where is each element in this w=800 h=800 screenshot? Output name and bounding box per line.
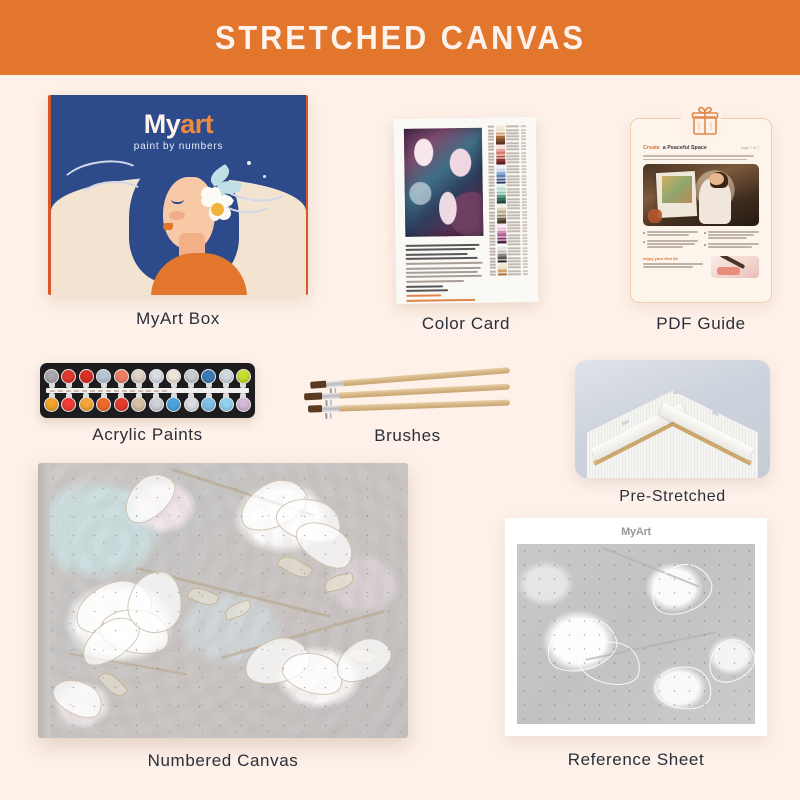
paint-pot (114, 369, 129, 384)
pdf-photo (643, 164, 759, 226)
pdf-bullet-columns (643, 231, 759, 252)
sparkle-1 (247, 161, 251, 165)
paint-pot (236, 369, 251, 384)
paint-pot (131, 369, 146, 384)
page-header: STRETCHED CANVAS (0, 0, 800, 75)
infographic-page: STRETCHED CANVAS (0, 0, 800, 800)
paint-pot (44, 369, 59, 384)
lips (163, 223, 173, 230)
paint-pot (166, 369, 181, 384)
reference-sheet-logo: MyArt (517, 526, 755, 538)
brush-bristle (304, 392, 322, 400)
gift-icon (681, 103, 721, 137)
paint-pot (166, 397, 181, 412)
numbered-canvas-surface (38, 463, 408, 738)
logo-text-my: My (144, 109, 181, 139)
pdf-guide-card: Create a Peaceful Space page 1 of 7 (630, 118, 772, 303)
paint-pot (96, 397, 111, 412)
caption-reference-sheet: Reference Sheet (505, 750, 767, 770)
logo-tagline: paint by numbers (51, 141, 306, 152)
paint-pot (201, 369, 216, 384)
product-brushes: Brushes (300, 372, 515, 420)
paint-pot (184, 369, 199, 384)
paint-row-top (44, 366, 251, 388)
caption-pdf-guide: PDF Guide (630, 314, 772, 334)
color-card-artwork (404, 128, 484, 237)
caption-pre-stretched: Pre-Stretched (575, 488, 770, 506)
pdf-footer: enjoy your first kit (643, 256, 759, 278)
paint-pot (131, 397, 146, 412)
logo-text-art: art (180, 109, 213, 139)
pdf-column-right (704, 231, 759, 252)
paint-pot (114, 397, 129, 412)
paint-pot (96, 369, 111, 384)
pdf-page-number: page 1 of 7 (741, 146, 759, 150)
pdf-footer-tag: enjoy your first kit (643, 256, 706, 261)
paint-pot (79, 397, 94, 412)
canvas-side-edge (38, 463, 50, 738)
paint-pot (61, 369, 76, 384)
paint-pot (219, 397, 234, 412)
sparkle-2 (263, 175, 266, 178)
color-card-instructions (405, 244, 486, 304)
page-title: STRETCHED CANVAS (214, 19, 585, 57)
color-card-paper (394, 117, 539, 304)
reference-number-dots (517, 544, 755, 724)
pdf-guide-content: Create a Peaceful Space page 1 of 7 (643, 145, 759, 290)
pdf-footer-text: enjoy your first kit (643, 256, 706, 269)
lamp (648, 209, 662, 223)
product-pre-stretched: Pre-Stretched (575, 360, 770, 478)
reference-sheet-image (517, 544, 755, 724)
cheek (169, 211, 185, 220)
staple-3 (673, 391, 680, 394)
staple-4 (684, 390, 691, 393)
box-logo: Myart paint by numbers (51, 109, 306, 152)
petal-5 (201, 187, 215, 200)
product-myart-box: Myart paint by numbers MyArt Box (48, 95, 308, 295)
paint-row-bottom (44, 393, 251, 415)
caption-acrylic-paints: Acrylic Paints (40, 425, 255, 445)
brush-3 (308, 398, 510, 412)
paint-pot (149, 397, 164, 412)
pre-stretched-photo (575, 360, 770, 478)
sparkle-3 (247, 199, 250, 202)
paint-pot (219, 369, 234, 384)
pdf-column-left (643, 231, 698, 252)
product-numbered-canvas: Numbered Canvas (38, 463, 408, 738)
pdf-heading-rest: a Peaceful Space (663, 145, 707, 151)
paint-pot (184, 397, 199, 412)
brush-handle (339, 383, 510, 398)
brush-ferrule (322, 392, 339, 399)
caption-brushes: Brushes (300, 426, 515, 446)
product-color-card: Color Card (395, 118, 537, 303)
caption-color-card: Color Card (395, 314, 537, 334)
paint-pot (44, 397, 59, 412)
brush-ferrule (326, 380, 343, 387)
pdf-footer-image (711, 256, 759, 278)
color-swatch-row (490, 273, 532, 276)
brush-handle (339, 399, 510, 411)
paint-tray (40, 363, 255, 418)
caption-numbered-canvas: Numbered Canvas (38, 751, 408, 771)
product-pdf-guide: Create a Peaceful Space page 1 of 7 (630, 118, 772, 303)
paint-pot (236, 397, 251, 412)
paint-pot (79, 369, 94, 384)
caption-myart-box: MyArt Box (48, 309, 308, 329)
product-acrylic-paints: Acrylic Paints (40, 363, 255, 418)
paint-pot (149, 369, 164, 384)
box-artwork: Myart paint by numbers (48, 95, 308, 295)
pdf-heading: Create a Peaceful Space page 1 of 7 (643, 145, 759, 151)
easel-painting (662, 176, 692, 203)
color-swatch-table (488, 125, 532, 296)
brush-ferrule (322, 405, 339, 412)
product-reference-sheet: MyArt Reference Sheet (505, 518, 767, 736)
paint-pot (61, 397, 76, 412)
paint-swatch (717, 267, 740, 274)
paint-pot (201, 397, 216, 412)
canvas-number-dots (38, 463, 408, 738)
flower-center (211, 203, 224, 216)
brush-bristle (310, 381, 326, 389)
canvas-back-surface (587, 391, 759, 478)
reference-sheet-paper: MyArt (505, 518, 767, 736)
brush-bristle (308, 405, 322, 412)
pdf-heading-highlight: Create (643, 145, 660, 151)
